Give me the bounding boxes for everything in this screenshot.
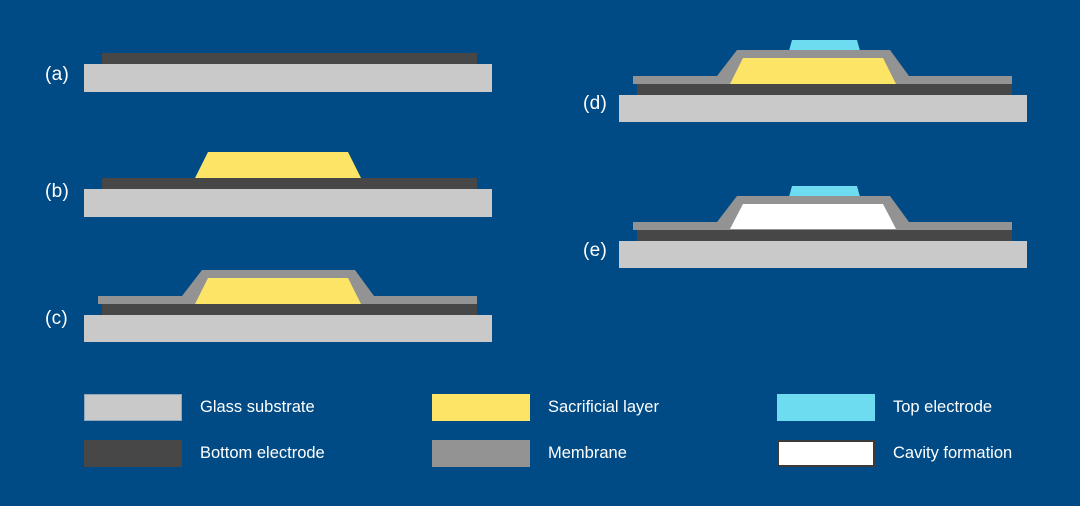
glass-substrate-layer [84, 315, 492, 342]
top-electrode-swatch [777, 394, 875, 421]
legend-item-bottom-electrode: Bottom electrode [84, 438, 325, 468]
legend-label-sacrificial-layer: Sacrificial layer [548, 399, 659, 416]
glass-substrate-layer [619, 95, 1027, 122]
bottom-electrode-layer [102, 178, 477, 189]
panel-c-cross-section [80, 262, 500, 342]
bottom-electrode-swatch [84, 440, 182, 467]
panel-c-label: (c) [45, 308, 68, 330]
legend-item-top-electrode: Top electrode [777, 392, 992, 422]
panel-e: (e) [0, 0, 540, 140]
panel-e-cross-section [615, 178, 1035, 268]
legend-column-3: Top electrode Cavity formation [765, 382, 1080, 482]
sacrificial-layer [730, 58, 896, 84]
legend-label-cavity-formation: Cavity formation [893, 445, 1012, 462]
glass-substrate-layer [84, 189, 492, 217]
cavity-region [730, 204, 896, 229]
legend-item-membrane: Membrane [432, 438, 627, 468]
legend: Glass substrate Bottom electrode Sacrifi… [0, 382, 1080, 482]
membrane-swatch [432, 440, 530, 467]
sacrificial-layer-swatch [432, 394, 530, 421]
panel-d-cross-section [615, 32, 1035, 122]
legend-label-glass-substrate: Glass substrate [200, 399, 315, 416]
bottom-electrode-layer [637, 84, 1012, 95]
panel-b-label: (b) [45, 181, 69, 203]
sacrificial-layer [195, 278, 361, 304]
legend-item-cavity-formation: Cavity formation [777, 438, 1012, 468]
legend-item-glass-substrate: Glass substrate [84, 392, 315, 422]
legend-label-top-electrode: Top electrode [893, 399, 992, 416]
glass-substrate-layer [619, 241, 1027, 268]
panel-d-label: (d) [583, 93, 607, 115]
legend-column-2: Sacrificial layer Membrane [420, 382, 780, 482]
cavity-formation-swatch [777, 440, 875, 467]
glass-substrate-swatch [84, 394, 182, 421]
legend-column-1: Glass substrate Bottom electrode [72, 382, 432, 482]
legend-label-membrane: Membrane [548, 445, 627, 462]
process-flow-figure: (a) (b) (c) [0, 0, 1080, 506]
panel-e-label: (e) [583, 240, 607, 262]
panel-b-cross-section [80, 142, 500, 217]
bottom-electrode-layer [102, 304, 477, 315]
legend-item-sacrificial-layer: Sacrificial layer [432, 392, 659, 422]
sacrificial-layer [195, 152, 361, 178]
bottom-electrode-layer [637, 230, 1012, 241]
legend-label-bottom-electrode: Bottom electrode [200, 445, 325, 462]
